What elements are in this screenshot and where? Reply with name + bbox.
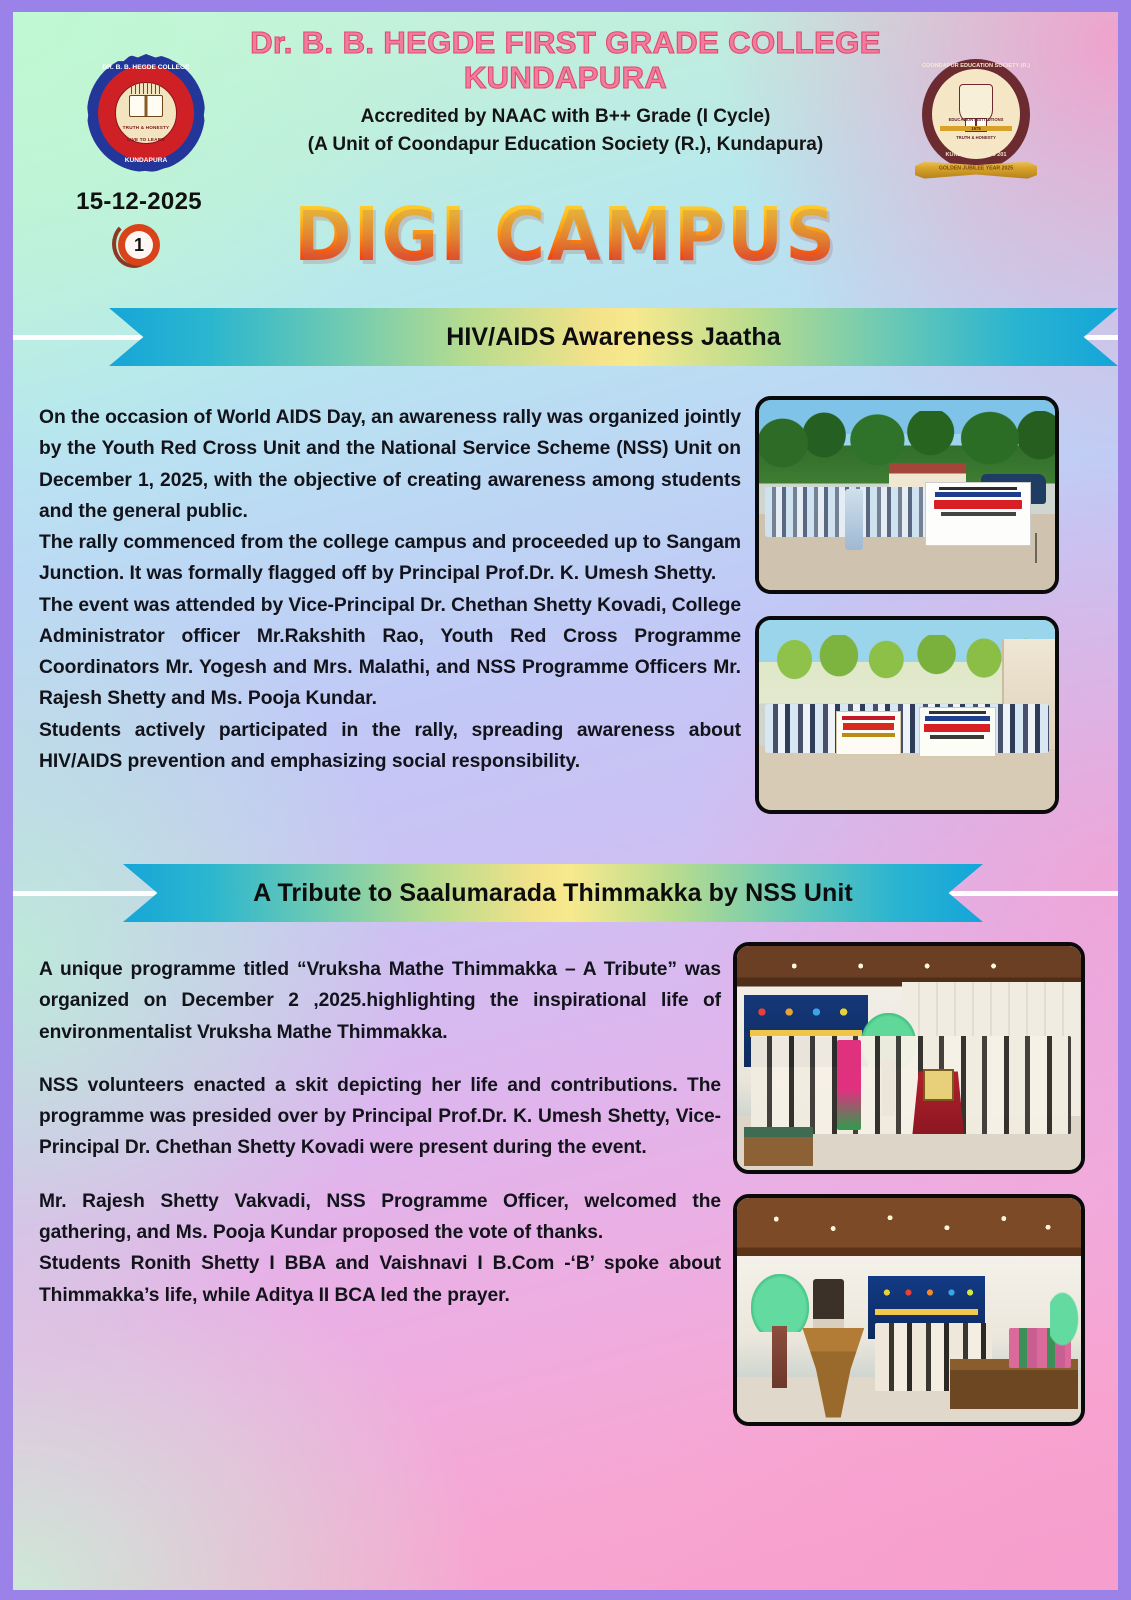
tree-prop-secondary: [1050, 1288, 1081, 1351]
golden-jubilee-ribbon-text: GOLDEN JUBILEE YEAR 2025: [915, 166, 1038, 172]
group-banner-photo: [755, 616, 1059, 814]
section-2-paragraph-2: NSS volunteers enacted a skit depicting …: [39, 1070, 721, 1164]
society-logo-motto-label: TRUTH & HONESTY: [912, 135, 1040, 140]
framed-portrait: [923, 1069, 954, 1100]
section-2-banner: A Tribute to Saalumarada Thimmakka by NS…: [123, 864, 983, 922]
rally-photo: [755, 396, 1059, 594]
section-2-text: A unique programme titled “Vruksha Mathe…: [39, 942, 721, 1311]
society-logo-year-label: 1975: [940, 126, 1012, 131]
college-logo-arc-top-text: DR. B. B. HEGDE COLLEGE: [87, 64, 205, 71]
section-1-banner-row: HIV/AIDS Awareness Jaatha: [13, 306, 1118, 368]
college-logo-arc-bottom-text: KUNDAPURA: [87, 157, 205, 164]
nss-world-aids-day-banner: [919, 707, 996, 756]
college-logo: DR. B. B. HEGDE COLLEGE TRUTH & HONESTY …: [87, 54, 205, 172]
accreditation-text: Accredited by NAAC with B++ Grade (I Cyc…: [183, 103, 948, 131]
society-logo: COONDAPUR EDUCATION SOCIETY (R.) EDUCATI…: [912, 56, 1040, 188]
section-1-paragraph-1: On the occasion of World AIDS Day, an aw…: [39, 402, 741, 527]
sunrays-icon: [131, 82, 161, 94]
ceiling-lights: [758, 957, 1061, 975]
section-1-content: On the occasion of World AIDS Day, an aw…: [13, 396, 1118, 814]
wooden-podium: [802, 1328, 864, 1418]
section-1-text: On the occasion of World AIDS Day, an aw…: [39, 396, 741, 777]
section-1-paragraph-2: The rally commenced from the college cam…: [39, 527, 741, 590]
section-2-title: A Tribute to Saalumarada Thimmakka by NS…: [253, 879, 853, 908]
section-2-banner-row: A Tribute to Saalumarada Thimmakka by NS…: [13, 862, 1118, 924]
section-1-photos: [755, 396, 1059, 814]
section-2-paragraph-3: Mr. Rajesh Shetty Vakvadi, NSS Programme…: [39, 1186, 721, 1249]
podium-speech-photo: [733, 1194, 1085, 1426]
section-1-banner: HIV/AIDS Awareness Jaatha: [109, 308, 1118, 366]
stage-participants: [751, 1036, 1071, 1135]
front-desk: [744, 1127, 813, 1165]
section-2-paragraph-4: Students Ronith Shetty I BBA and Vaishna…: [39, 1248, 721, 1311]
standing-participants: [765, 704, 1049, 753]
person-in-sari: [837, 1040, 861, 1130]
section-1-paragraph-3: The event was attended by Vice-Principal…: [39, 590, 741, 715]
section-2-photos: [733, 942, 1085, 1426]
person-in-sari: [845, 489, 863, 550]
page-header: DR. B. B. HEGDE COLLEGE TRUTH & HONESTY …: [13, 12, 1118, 302]
college-logo-motto-2: LIVE TO LEARN: [87, 137, 205, 142]
society-logo-arc-bottom-text: KUNDAPURA - 576 201: [912, 152, 1040, 158]
affiliation-text: (A Unit of Coondapur Education Society (…: [183, 131, 948, 159]
newsletter-page: DR. B. B. HEGDE COLLEGE TRUTH & HONESTY …: [13, 12, 1118, 1590]
society-logo-institutions-label: EDUCATION INSTITUTIONS: [912, 117, 1040, 122]
section-1-title: HIV/AIDS Awareness Jaatha: [446, 323, 781, 352]
stage-group-photo: [733, 942, 1085, 1174]
banner-pole: [1035, 533, 1037, 563]
section-2-content: A unique programme titled “Vruksha Mathe…: [13, 942, 1118, 1426]
newsletter-wordmark: DIGI CAMPUS: [46, 198, 1085, 272]
section-1-paragraph-4: Students actively participated in the ra…: [39, 715, 741, 778]
section-2-paragraph-1: A unique programme titled “Vruksha Mathe…: [39, 954, 721, 1048]
open-book-icon: [129, 95, 163, 117]
college-logo-motto-1: TRUTH & HONESTY: [87, 125, 205, 130]
ceiling-lights: [751, 1211, 1068, 1238]
college-name-line-1: Dr. B. B. HEGDE FIRST GRADE COLLEGE: [223, 26, 908, 61]
college-name-line-2: KUNDAPURA: [223, 61, 908, 96]
world-aids-day-banner: [925, 482, 1032, 547]
youth-red-cross-banner: [836, 711, 901, 755]
tree-prop: [751, 1274, 809, 1386]
